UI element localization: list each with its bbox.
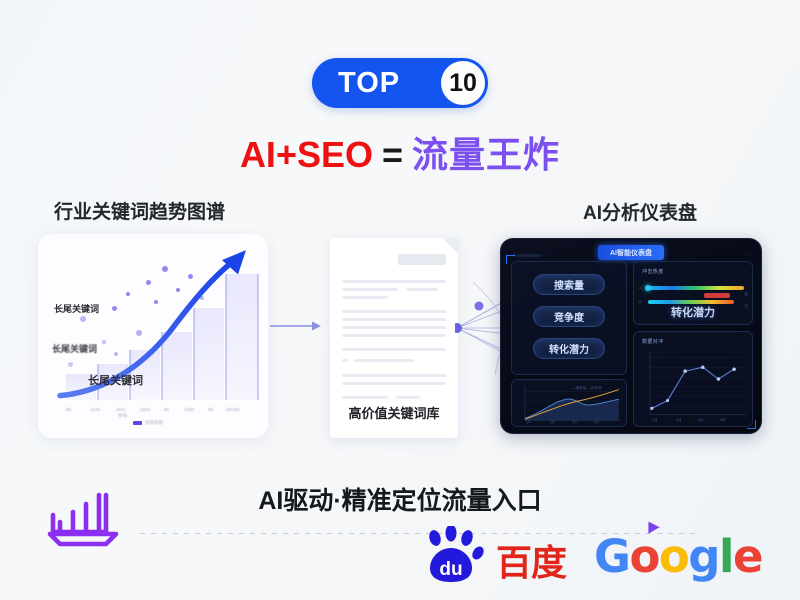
axis-label-x: 年份 bbox=[118, 413, 127, 419]
dashboard-brand: TrendSeeker bbox=[513, 253, 542, 258]
frame-corner-icon bbox=[506, 255, 515, 264]
page-title: AI+SEO=流量王炸 bbox=[0, 126, 800, 178]
doc-header-block bbox=[398, 254, 446, 265]
line-chart bbox=[634, 332, 752, 426]
keyword-label: 长尾关键词 bbox=[88, 372, 143, 388]
dashboard-screen: AI智能仪表盘 TrendSeeker ··· 搜索量 竞争度 转化潜力 bbox=[500, 238, 762, 434]
title-part-left: AI+SEO bbox=[240, 134, 373, 175]
section-heading-left: 行业关键词趋势图谱 bbox=[54, 197, 225, 224]
metric-pill-search-volume[interactable]: 搜索量 bbox=[533, 274, 605, 295]
doc-caption: 高价值关键词库 bbox=[330, 403, 458, 422]
heat-panel-title: 冲击热度 bbox=[642, 268, 664, 275]
axis-tick: 88 bbox=[66, 407, 71, 412]
frame-corner-icon bbox=[747, 420, 756, 429]
chart-legend: 搜索指数 bbox=[133, 420, 163, 426]
axis-tick: 80 bbox=[164, 407, 169, 412]
keyword-label: 长尾关键词 bbox=[52, 342, 97, 355]
ai-dashboard: AI智能仪表盘 TrendSeeker ··· 搜索量 竞争度 转化潜力 bbox=[500, 238, 762, 434]
metrics-panel: 搜索量 竞争度 转化潜力 bbox=[511, 261, 627, 375]
baidu-paw-icon: du bbox=[418, 526, 494, 586]
dashboard-overlay-text: 转化潜力 bbox=[671, 304, 715, 320]
bottom-tagline: AI驱动·精准定位流量入口 bbox=[0, 481, 800, 517]
trend-panel: 数据对冲 bbox=[633, 331, 753, 427]
partner-logos: du 百度 Google bbox=[418, 520, 758, 586]
metric-pill-conversion[interactable]: 转化潜力 bbox=[533, 338, 605, 359]
baidu-du-text: du bbox=[439, 559, 462, 580]
legend-label: 搜索指数 bbox=[145, 420, 163, 426]
top-rank-badge: TOP 10 bbox=[312, 58, 488, 108]
keyword-library-document: 高价值关键词库 bbox=[330, 238, 458, 438]
heat-gradient-bar-1 bbox=[648, 286, 744, 290]
top-badge-number: 10 bbox=[441, 61, 485, 105]
keyword-trend-card: 长尾关键词 长尾关键词 长尾关键词 88 1145 2011 1844 80 1… bbox=[38, 234, 268, 438]
dashboard-title-badge: AI智能仪表盘 bbox=[598, 245, 664, 260]
heat-marker-dot bbox=[645, 285, 651, 291]
metric-pill-competition[interactable]: 竞争度 bbox=[533, 306, 605, 327]
axis-tick: 1684 bbox=[184, 407, 194, 412]
slide-canvas: TOP 10 AI+SEO=流量王炸 行业关键词趋势图谱 AI分析仪表盘 bbox=[0, 0, 800, 600]
section-heading-right: AI分析仪表盘 bbox=[583, 198, 697, 225]
keyword-label: 长尾关键词 bbox=[54, 302, 99, 315]
google-wordmark: Google bbox=[594, 530, 762, 583]
flow-arrow-right bbox=[270, 320, 322, 332]
dashboard-menu-icon[interactable]: ··· bbox=[742, 253, 752, 259]
axis-tick: 68 bbox=[208, 407, 213, 412]
axis-tick: 2011 bbox=[116, 407, 126, 412]
trend-chart: 长尾关键词 长尾关键词 长尾关键词 88 1145 2011 1844 80 1… bbox=[50, 244, 256, 430]
axis-tick: 1844 bbox=[140, 407, 150, 412]
heat-panel: 冲击热度 高 中 A B 转化潜力 bbox=[633, 261, 753, 325]
area-chart-panel: —搜索量 —转化率 Q1 Q2 Q3 Q4 bbox=[511, 379, 627, 427]
axis-tick: 1145 bbox=[90, 407, 100, 412]
trend-arrow bbox=[50, 244, 256, 430]
baidu-wordmark: 百度 bbox=[496, 534, 566, 586]
play-cursor-icon bbox=[646, 520, 662, 536]
page-fold-corner bbox=[442, 238, 458, 254]
heat-value-chip bbox=[704, 293, 730, 298]
title-equals: = bbox=[382, 134, 403, 175]
top-badge-label: TOP bbox=[338, 69, 400, 98]
legend-swatch bbox=[133, 421, 142, 425]
title-part-right: 流量王炸 bbox=[412, 134, 560, 175]
axis-tick: 2024N bbox=[226, 407, 240, 412]
